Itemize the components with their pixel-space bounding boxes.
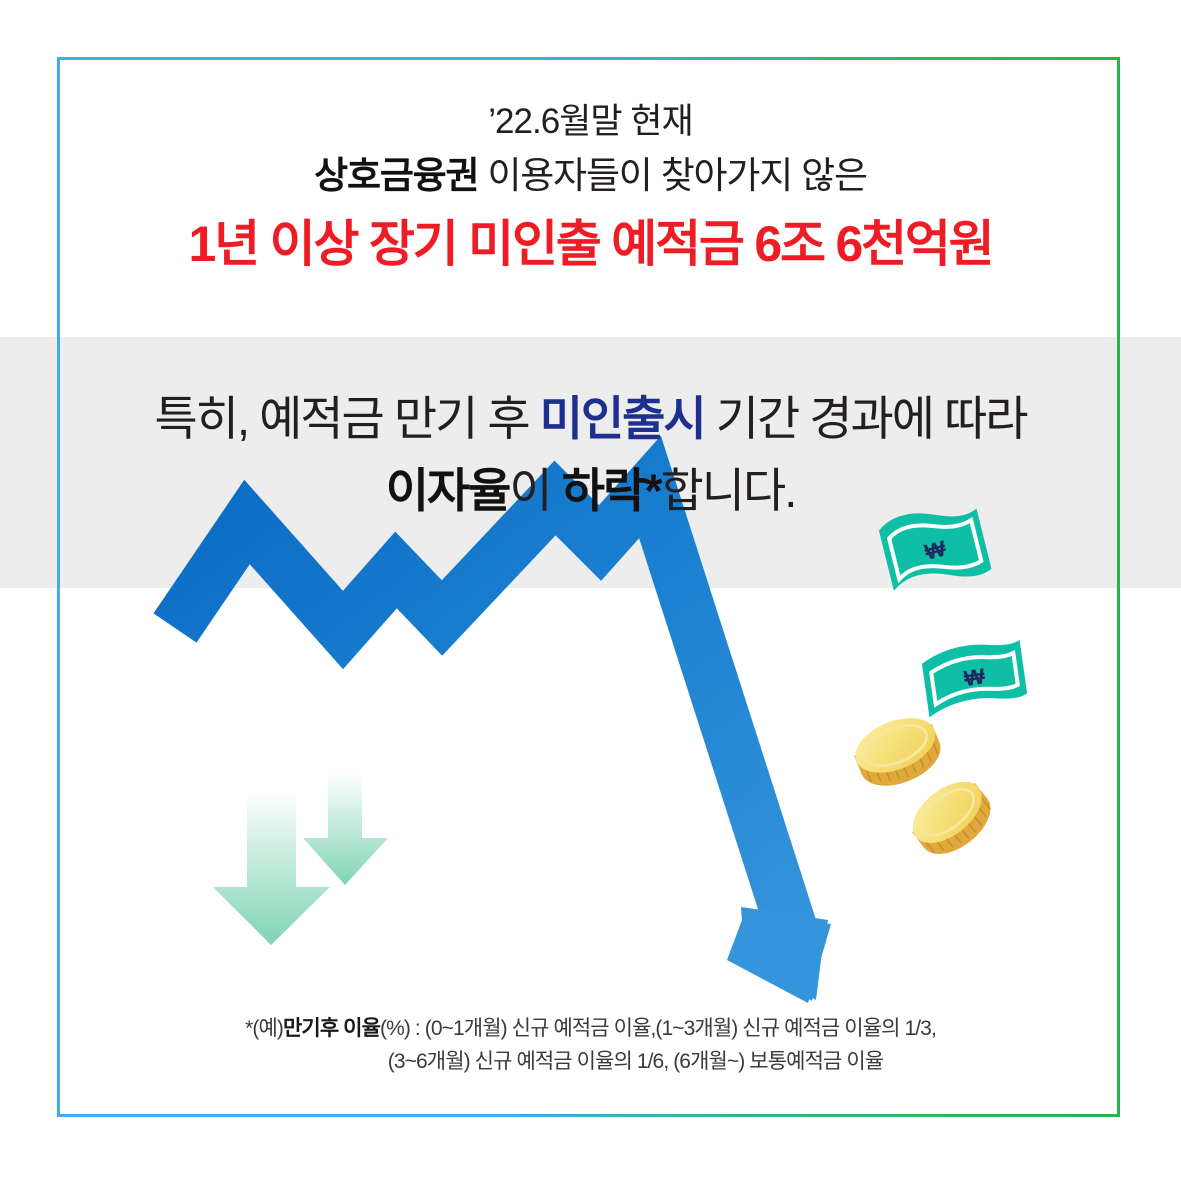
message-block: 특히, 예적금 만기 후 미인출시 기간 경과에 따라 이자율이 하락*합니다. xyxy=(0,388,1181,522)
infographic-canvas: ₩ ₩ xyxy=(0,0,1181,1181)
message-line-2: 이자율이 하락*합니다. xyxy=(0,460,1181,522)
message-line1-suffix: 기간 경과에 따라 xyxy=(705,392,1027,445)
green-down-arrow-small xyxy=(303,772,388,885)
footnote-line-2: (3~6개월) 신규 예적금 이율의 1/6, (6개월~) 보통예적금 이율 xyxy=(0,1045,1181,1078)
message-line2-particle: 이 xyxy=(509,464,561,517)
message-decline-term: 하락* xyxy=(562,464,661,517)
footnote-prefix: *(예) xyxy=(245,1017,283,1040)
header-block: ’22.6월말 현재 상호금융권 이용자들이 찾아가지 않은 1년 이상 장기 … xyxy=(0,100,1181,276)
header-subtitle-org: 상호금융권 이용자들이 찾아가지 않은 xyxy=(0,150,1181,202)
header-org-rest: 이용자들이 찾아가지 않은 xyxy=(478,155,866,196)
header-headline: 1년 이상 장기 미인출 예적금 6조 6천억원 xyxy=(0,212,1181,276)
green-down-arrow-large xyxy=(213,790,330,945)
footnote-line1-rest: (%) : (0~1개월) 신규 예적금 이율,(1~3개월) 신규 예적금 이… xyxy=(380,1017,936,1040)
header-subtitle-date: ’22.6월말 현재 xyxy=(0,100,1181,144)
message-line-1: 특히, 예적금 만기 후 미인출시 기간 경과에 따라 xyxy=(0,388,1181,450)
message-highlight-term: 미인출시 xyxy=(540,392,705,445)
footnote-block: *(예)만기후 이율(%) : (0~1개월) 신규 예적금 이율,(1~3개월… xyxy=(0,1012,1181,1078)
message-line1-prefix: 특히, 예적금 만기 후 xyxy=(154,392,539,445)
header-org-bold: 상호금융권 xyxy=(314,155,478,196)
message-interest-rate-term: 이자율 xyxy=(386,464,510,517)
footnote-line-1: *(예)만기후 이율(%) : (0~1개월) 신규 예적금 이율,(1~3개월… xyxy=(0,1012,1181,1045)
message-line2-end: 합니다. xyxy=(661,464,796,517)
footnote-bold-term: 만기후 이율 xyxy=(283,1017,380,1040)
